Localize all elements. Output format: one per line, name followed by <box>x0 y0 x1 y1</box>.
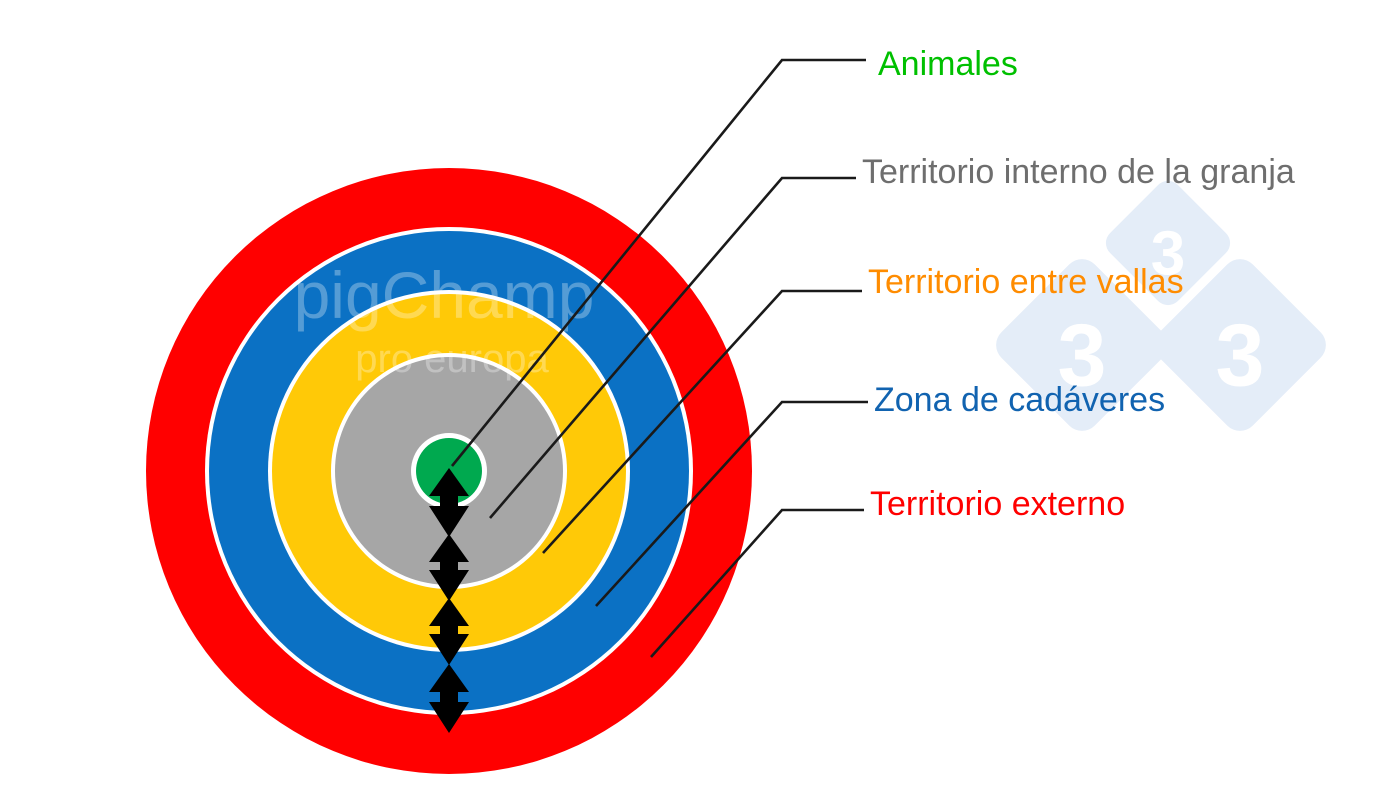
watermark-pigchamp-line1: pigChamp <box>294 258 595 332</box>
watermark-digit-3: 3 <box>1216 305 1265 404</box>
label-animales: Animales <box>878 47 1018 81</box>
label-zona-cadaveres: Zona de cadáveres <box>874 383 1165 417</box>
concentric-rings-diagram: 3 3 3 <box>0 0 1400 788</box>
label-territorio-interno: Territorio interno de la granja <box>862 155 1295 189</box>
label-territorio-entre-vallas: Territorio entre vallas <box>868 265 1184 299</box>
diagram-canvas: 3 3 3 <box>0 0 1400 788</box>
label-territorio-externo: Territorio externo <box>870 487 1125 521</box>
watermark-pigchamp-line2: pro europa <box>355 337 549 381</box>
